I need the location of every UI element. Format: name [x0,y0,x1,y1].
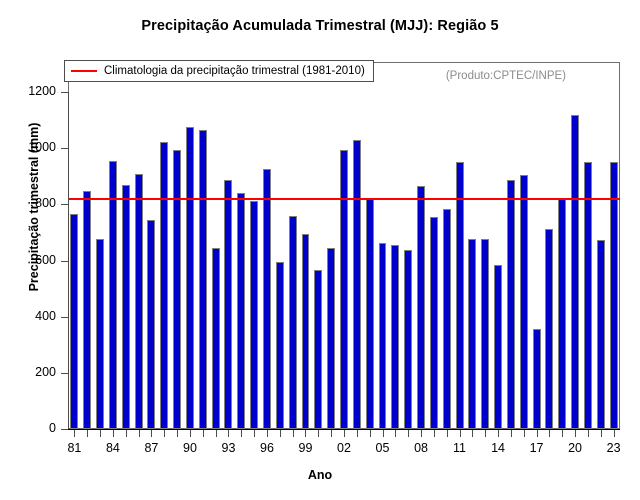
x-axis-tick-label: 93 [213,441,243,455]
x-axis-tick [614,430,615,437]
x-axis-tick [601,430,602,437]
bar-series [68,92,620,429]
bar [160,142,168,429]
climatology-reference-line [68,198,620,200]
bar [404,250,412,429]
x-axis-tick [87,430,88,437]
bar [186,127,194,429]
x-axis-tick [575,430,576,437]
bar [430,217,438,429]
x-axis-tick [216,430,217,437]
x-axis-tick-label: 23 [599,441,629,455]
bar [173,150,181,429]
bar [584,162,592,429]
x-axis-tick [164,430,165,437]
y-axis-tick [61,317,68,318]
y-axis-tick [61,429,68,430]
bar [366,199,374,429]
bar [212,248,220,429]
bar [468,239,476,429]
x-axis-tick [203,430,204,437]
x-axis-tick [151,430,152,437]
x-axis-tick [305,430,306,437]
bar [379,243,387,429]
bar [96,239,104,429]
x-axis-tick [460,430,461,437]
x-axis-tick [472,430,473,437]
bar [443,209,451,429]
bar [250,201,258,429]
y-axis-tick-label: 0 [6,421,56,435]
y-axis-tick [61,261,68,262]
product-attribution: (Produto:CPTEC/INPE) [446,70,566,82]
y-axis-line [68,92,69,429]
x-axis-tick [190,430,191,437]
y-axis-tick [61,148,68,149]
bar [353,140,361,429]
x-axis-tick [408,430,409,437]
bar [558,199,566,429]
bar [533,329,541,429]
bar [545,229,553,429]
x-axis-tick [524,430,525,437]
x-axis-tick [357,430,358,437]
x-axis-tick-label: 20 [560,441,590,455]
x-axis-tick [241,430,242,437]
x-axis-tick [293,430,294,437]
x-axis-tick-label: 05 [368,441,398,455]
x-axis-tick [254,430,255,437]
x-axis-tick [485,430,486,437]
bar [224,180,232,429]
x-axis-tick [370,430,371,437]
x-axis-tick-label: 08 [406,441,436,455]
y-axis-tick [61,204,68,205]
x-axis-tick [280,430,281,437]
x-axis-tick-label: 87 [136,441,166,455]
bar [302,234,310,429]
bar [70,214,78,429]
x-axis-tick-label: 11 [445,441,475,455]
x-axis-tick [588,430,589,437]
chart-title: Precipitação Acumulada Trimestral (MJJ):… [0,18,640,34]
x-axis-tick [434,430,435,437]
x-axis-tick [331,430,332,437]
y-axis-tick [61,92,68,93]
x-axis-tick [511,430,512,437]
bar [276,262,284,429]
x-axis-tick-label: 99 [290,441,320,455]
x-axis-tick [139,430,140,437]
x-axis-tick-label: 17 [522,441,552,455]
bar [456,162,464,429]
x-axis-tick-label: 14 [483,441,513,455]
legend-label: Climatologia da precipitação trimestral … [104,65,365,77]
bar [289,216,297,429]
legend: Climatologia da precipitação trimestral … [64,60,374,82]
x-axis-tick [100,430,101,437]
x-axis-tick [549,430,550,437]
bar [597,240,605,429]
x-axis-tick [562,430,563,437]
x-axis-tick-label: 81 [59,441,89,455]
bar [83,191,91,429]
bar [135,174,143,429]
x-axis-tick-label: 84 [98,441,128,455]
x-axis-title: Ano [0,468,640,482]
bar [122,185,130,429]
x-axis-tick [177,430,178,437]
x-axis-tick [344,430,345,437]
x-axis-tick [421,430,422,437]
x-axis-tick [383,430,384,437]
bar [147,220,155,430]
x-axis-tick [113,430,114,437]
x-axis-tick [126,430,127,437]
y-axis-title: Precipitação trimestral (mm) [27,77,41,337]
bar [507,180,515,429]
bar [340,150,348,429]
x-axis-tick [447,430,448,437]
x-axis-tick [537,430,538,437]
bar [520,175,528,429]
bar [610,162,618,429]
bar [199,130,207,429]
legend-line-swatch [71,70,97,72]
x-axis-tick [318,430,319,437]
x-axis-tick-label: 90 [175,441,205,455]
bar [481,239,489,429]
bar [263,169,271,429]
x-axis-tick [267,430,268,437]
bar [109,161,117,429]
bar [314,270,322,429]
y-axis-tick [61,373,68,374]
x-axis-tick-label: 96 [252,441,282,455]
y-axis-tick-label: 200 [6,365,56,379]
bar [327,248,335,429]
x-axis-tick [395,430,396,437]
bar [417,186,425,429]
x-axis-tick [74,430,75,437]
bar [494,265,502,429]
x-axis-tick-label: 02 [329,441,359,455]
x-axis-tick [228,430,229,437]
bar [571,115,579,429]
x-axis-tick [498,430,499,437]
bar [391,245,399,429]
bar [237,193,245,429]
chart-root: Precipitação Acumulada Trimestral (MJJ):… [0,0,640,500]
